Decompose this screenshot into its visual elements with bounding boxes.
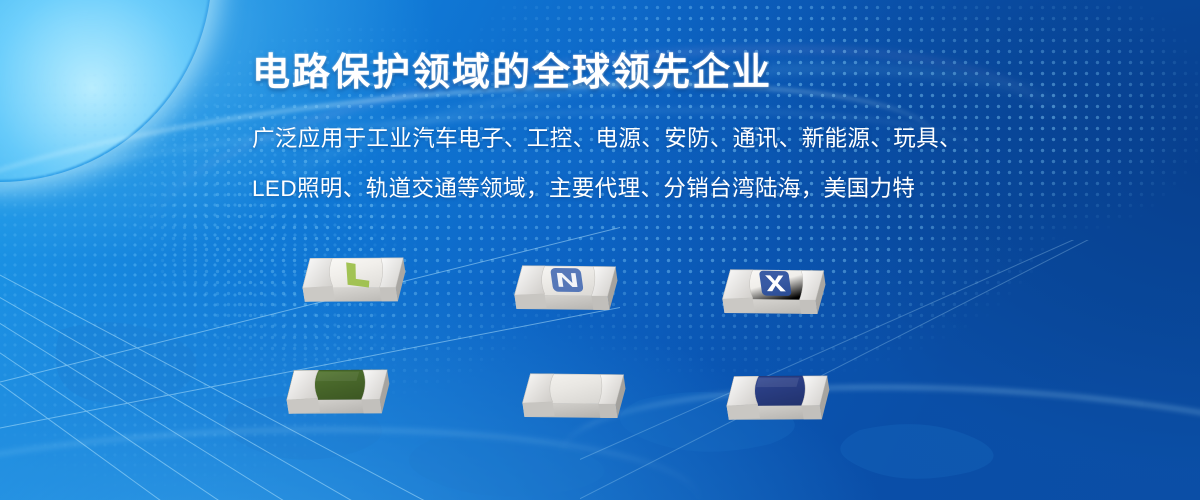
fuse-marking-n [550, 268, 584, 292]
hero-banner: 电路保护领域的全球领先企业 广泛应用于工业汽车电子、工控、电源、安防、通讯、新能… [0, 0, 1200, 500]
fuse-marking-x [759, 271, 792, 296]
banner-text-block: 电路保护领域的全球领先企业 广泛应用于工业汽车电子、工控、电源、安防、通讯、新能… [252, 48, 1052, 214]
subtitle-line-2: LED照明、轨道交通等领域，主要代理、分销台湾陆海，美国力特 [252, 164, 1052, 214]
diagonal-light-rays-right [580, 240, 1140, 500]
page-title: 电路保护领域的全球领先企业 [252, 48, 1052, 98]
subtitle-line-1: 广泛应用于工业汽车电子、工控、电源、安防、通讯、新能源、玩具、 [252, 114, 1052, 164]
diagonal-light-rays [0, 200, 620, 500]
